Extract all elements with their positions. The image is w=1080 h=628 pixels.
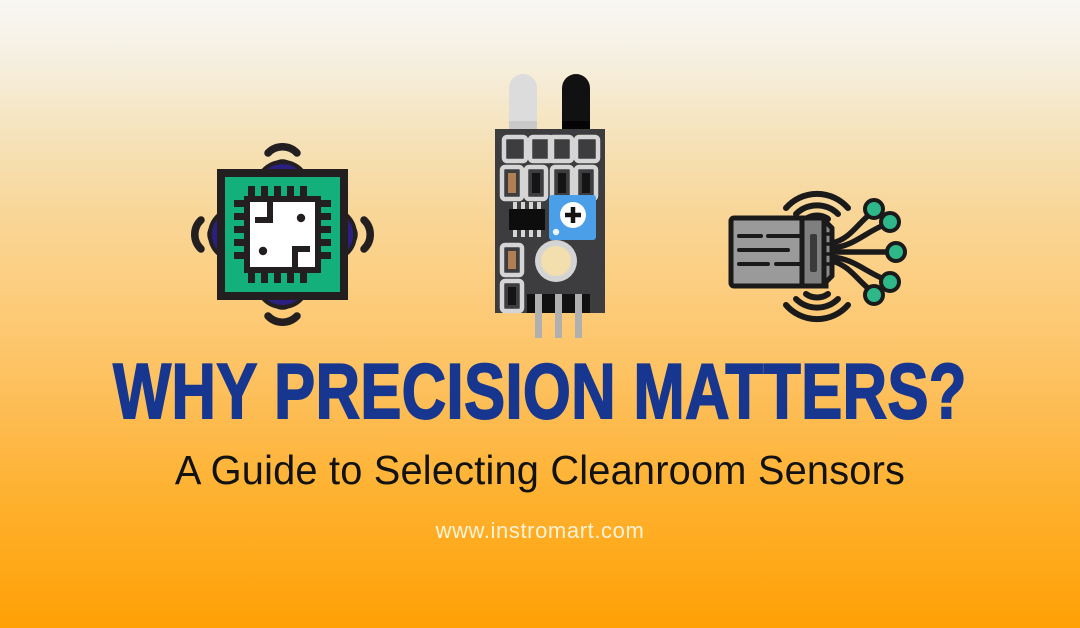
page-title: WHY PRECISION MATTERS? — [38, 352, 1042, 430]
wired-sensor-icon — [706, 162, 926, 332]
infrared-sensor-module-icon — [478, 55, 623, 340]
microchip-sensor-icon — [180, 132, 385, 337]
icon-row — [0, 0, 1080, 345]
banner-root: WHY PRECISION MATTERS? A Guide to Select… — [0, 0, 1080, 628]
website-url: www.instromart.com — [0, 518, 1080, 544]
page-subtitle: A Guide to Selecting Cleanroom Sensors — [16, 448, 1064, 493]
text-block: WHY PRECISION MATTERS? A Guide to Select… — [0, 352, 1080, 544]
